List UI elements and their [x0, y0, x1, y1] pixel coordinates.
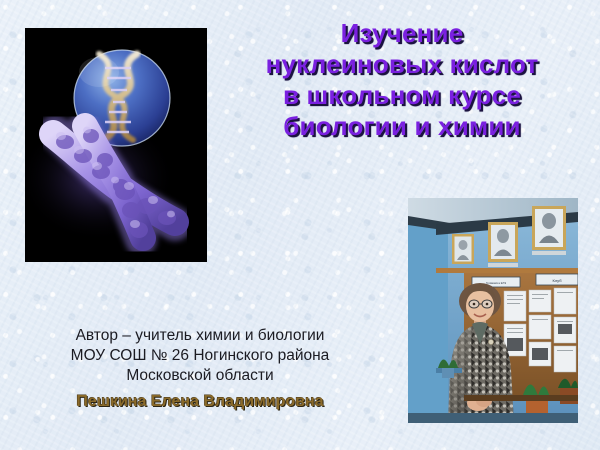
presentation-slide: Изучение нуклеиновых кислот в школьном к…: [0, 0, 600, 450]
credit-line-1: Автор – учитель химии и биологии: [12, 326, 388, 346]
chromosome-dna-vector: [25, 28, 207, 262]
title-line-3: в школьном курсе: [212, 80, 592, 111]
credit-line-2: МОУ СОШ № 26 Ногинского района: [12, 346, 388, 366]
board-sign-right: Клуб: [536, 274, 578, 285]
author-name: Пешкина Елена Владимировна: [12, 390, 388, 414]
svg-text:Клуб: Клуб: [553, 278, 563, 283]
credit-line-3: Московской области: [12, 366, 388, 386]
title-line-2: нуклеиновых кислот: [212, 49, 592, 80]
teacher-classroom-photo: Готовимся к ЕГЭ Клуб: [408, 198, 578, 423]
title-line-4: биологии и химии: [212, 111, 592, 142]
chromosome-dna-illustration: [25, 28, 207, 262]
title-line-1: Изучение: [212, 18, 592, 49]
teacher-photo-vector: Готовимся к ЕГЭ Клуб: [408, 198, 578, 423]
author-credits: Автор – учитель химии и биологии МОУ СОШ…: [12, 326, 388, 414]
svg-text:Готовимся к ЕГЭ: Готовимся к ЕГЭ: [486, 281, 506, 285]
slide-title: Изучение нуклеиновых кислот в школьном к…: [212, 18, 592, 142]
